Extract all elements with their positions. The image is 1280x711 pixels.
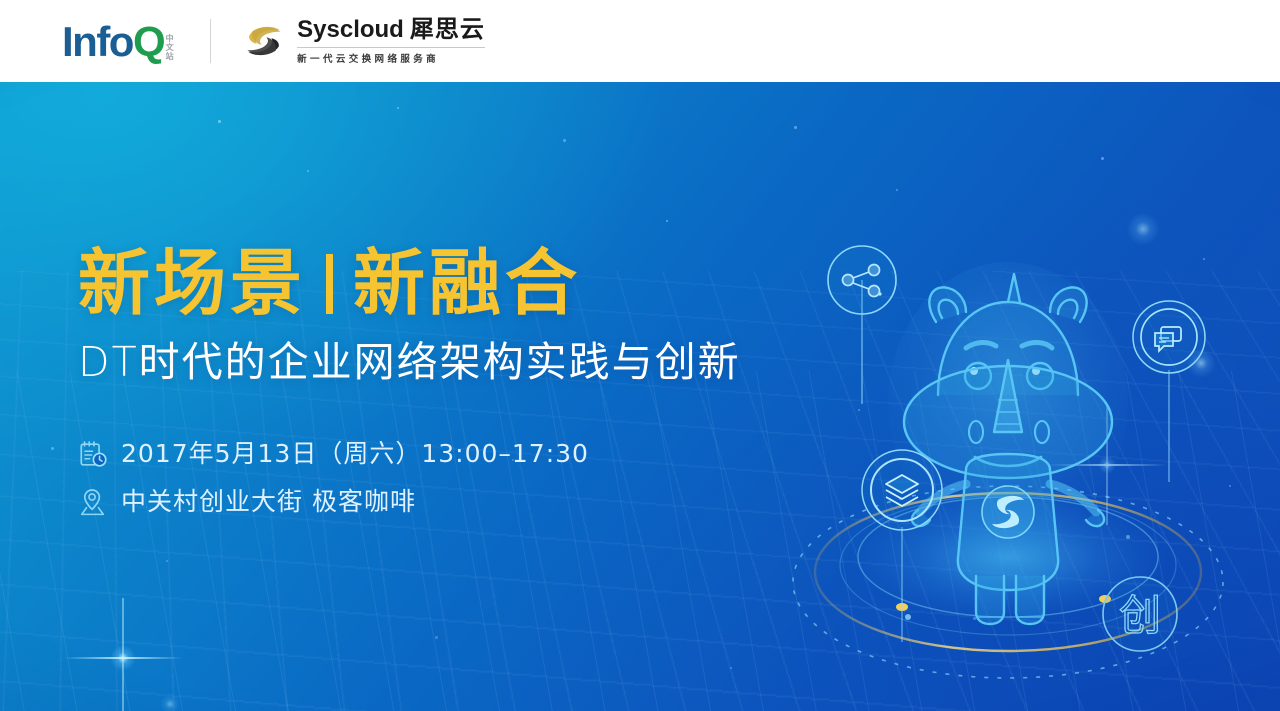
- banner-copy: 新场景新融合 DT时代的企业网络架构实践与创新 2017年5月13日（周六）13…: [78, 240, 741, 530]
- header-logos: InfoQ 中文站 Syscloud犀思云 新一代云交换网络服务商: [62, 0, 485, 82]
- event-datetime-text: 2017年5月13日（周六）13:00–17:30: [121, 434, 589, 474]
- event-location-text: 中关村创业大街 极客咖啡: [121, 482, 416, 522]
- hologram-artwork: 创: [760, 152, 1260, 711]
- banner-subtitle: DT时代的企业网络架构实践与创新: [78, 332, 741, 392]
- sparkle-large-left: [110, 645, 136, 671]
- banner-title-divider: [326, 254, 333, 314]
- banner-title: 新场景新融合: [78, 240, 741, 326]
- chuang-character-icon: 创: [1119, 591, 1161, 640]
- syscloud-logo[interactable]: Syscloud犀思云 新一代云交换网络服务商: [241, 17, 485, 65]
- location-pin-icon: [78, 487, 108, 517]
- node-chuang[interactable]: 创: [1103, 577, 1177, 651]
- banner-title-right: 新融合: [353, 241, 581, 325]
- header-divider: [210, 19, 211, 63]
- event-datetime-row: 2017年5月13日（周六）13:00–17:30: [78, 434, 741, 474]
- infoq-logo-q: Q: [133, 18, 164, 65]
- banner-title-left: 新场景: [78, 241, 306, 325]
- syscloud-name: Syscloud犀思云: [297, 17, 485, 43]
- event-poster-page: InfoQ 中文站 Syscloud犀思云 新一代云交换网络服务商: [0, 0, 1280, 711]
- event-location-row: 中关村创业大街 极客咖啡: [78, 482, 741, 522]
- syscloud-tagline: 新一代云交换网络服务商: [297, 47, 485, 65]
- event-meta: 2017年5月13日（周六）13:00–17:30 中关村创业大街 极客咖啡: [78, 434, 741, 522]
- node-share-network[interactable]: [828, 246, 896, 404]
- node-chat[interactable]: [1133, 301, 1205, 482]
- sparkle-bottom-left: [160, 694, 180, 711]
- infoq-logo-vertical-text: 中文站: [165, 34, 174, 61]
- syscloud-s-logo: [982, 486, 1034, 538]
- calendar-clock-icon: [78, 439, 108, 469]
- infoq-wordmark: InfoQ: [62, 19, 164, 65]
- event-banner: 新场景新融合 DT时代的企业网络架构实践与创新 2017年5月13日（周六）13…: [0, 82, 1280, 711]
- infoq-logo[interactable]: InfoQ 中文站: [62, 17, 174, 65]
- syscloud-text-block: Syscloud犀思云 新一代云交换网络服务商: [297, 17, 485, 65]
- syscloud-name-en: Syscloud: [297, 16, 404, 43]
- infoq-logo-info: Info: [62, 18, 133, 65]
- syscloud-name-cn: 犀思云: [410, 16, 485, 43]
- syscloud-s-swirl-icon: [241, 18, 287, 64]
- site-header: InfoQ 中文站 Syscloud犀思云 新一代云交换网络服务商: [0, 0, 1280, 82]
- hologram-scene: 创: [760, 152, 1260, 711]
